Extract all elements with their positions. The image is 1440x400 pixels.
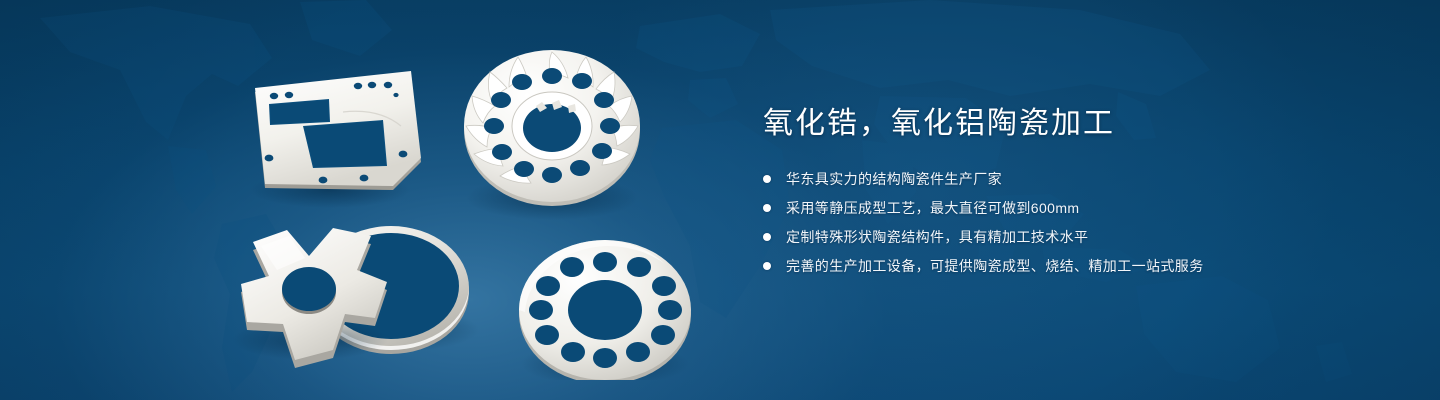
list-item-label: 定制特殊形状陶瓷结构件，具有精加工技术水平 [786,229,1088,245]
product-ceramic-impeller [464,50,640,220]
promo-banner: 氧化锆，氧化铝陶瓷加工 华东具实力的结构陶瓷件生产厂家 采用等静压成型工艺，最大… [0,0,1440,400]
list-item-label: 完善的生产加工设备，可提供陶瓷成型、烧结、精加工一站式服务 [786,258,1204,274]
list-item-label: 华东具实力的结构陶瓷件生产厂家 [786,171,1002,187]
bullet-dot-icon [763,262,771,270]
list-item: 采用等静压成型工艺，最大直径可做到600mm [763,199,1383,217]
list-item: 华东具实力的结构陶瓷件生产厂家 [763,170,1383,188]
list-item: 完善的生产加工设备，可提供陶瓷成型、烧结、精加工一站式服务 [763,257,1383,275]
bullet-dot-icon [763,204,771,212]
feature-list: 华东具实力的结构陶瓷件生产厂家 采用等静压成型工艺，最大直径可做到600mm 定… [763,170,1383,275]
product-ceramic-perforated-disc [519,240,691,380]
banner-copy: 氧化锆，氧化铝陶瓷加工 华东具实力的结构陶瓷件生产厂家 采用等静压成型工艺，最大… [763,106,1383,275]
bullet-dot-icon [763,233,771,241]
list-item-label: 采用等静压成型工艺，最大直径可做到600mm [786,200,1079,216]
page-title: 氧化锆，氧化铝陶瓷加工 [763,106,1383,142]
product-ceramic-plate [250,71,421,208]
product-ceramic-cross [232,228,388,368]
list-item: 定制特殊形状陶瓷结构件，具有精加工技术水平 [763,228,1383,246]
bullet-dot-icon [763,175,771,183]
ceramic-products-image [225,30,735,380]
